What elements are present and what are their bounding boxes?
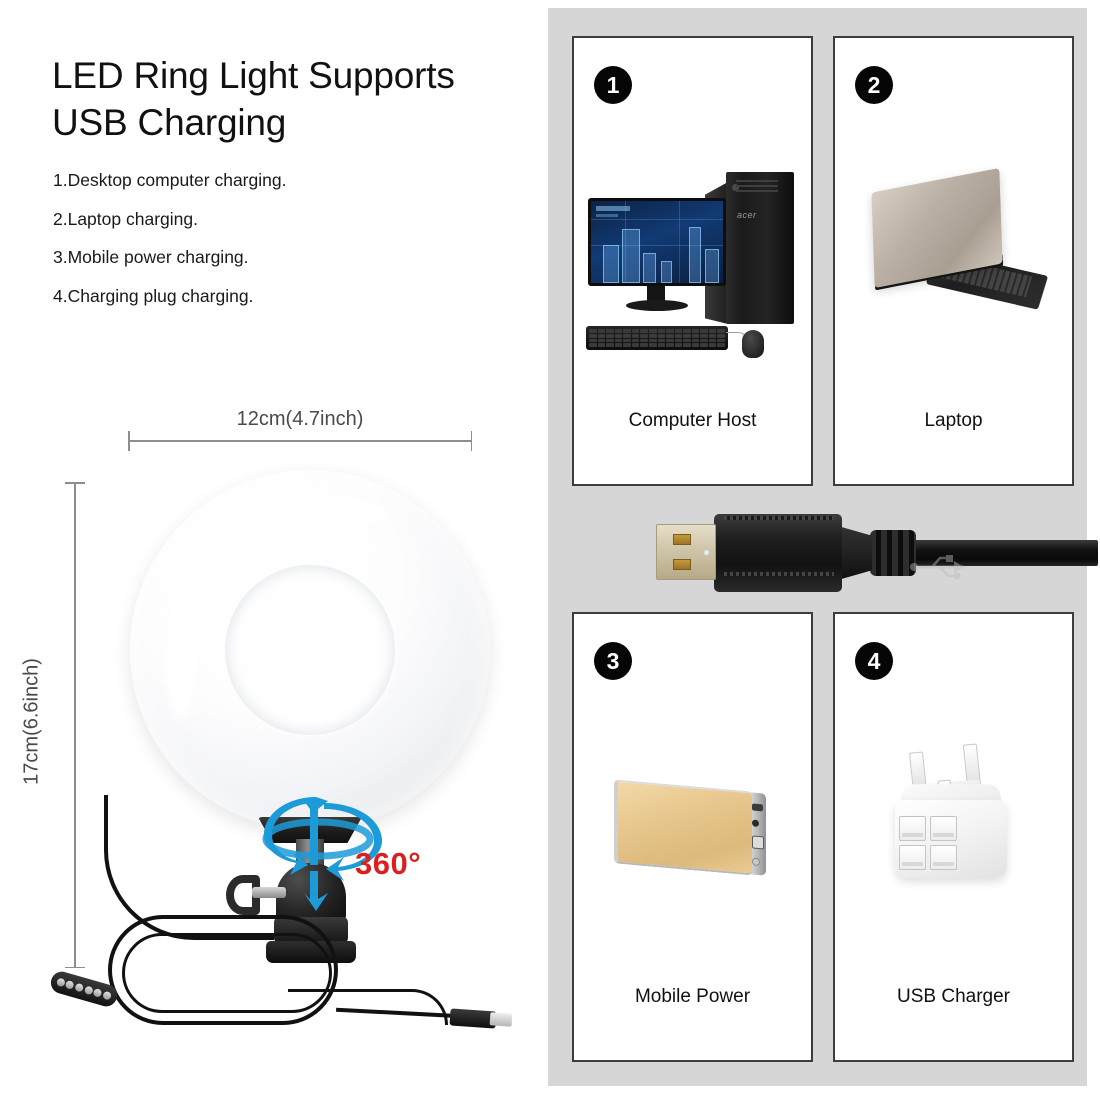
card-label-2: Laptop	[835, 410, 1072, 432]
usb-metal-housing	[656, 524, 716, 580]
monitor-screen	[591, 201, 723, 283]
mouse-icon	[742, 330, 764, 358]
height-dimension-line	[74, 482, 76, 968]
power-bank-power-button	[752, 857, 760, 866]
page-title-line-2: USB Charging	[52, 102, 286, 143]
charger-usb-port-grid	[899, 816, 957, 870]
monitor-base	[626, 300, 688, 311]
ring-inner-aperture	[225, 565, 395, 735]
power-cable-tail	[288, 989, 448, 1025]
computer-tower	[726, 172, 794, 324]
page-title: LED Ring Light Supports USB Charging	[52, 52, 522, 147]
usb-trident-logo-icon	[910, 554, 978, 580]
keyboard-icon	[586, 326, 728, 350]
card-number-badge-1: 1	[594, 66, 632, 104]
cable-usb-plug-metal	[490, 1012, 513, 1027]
power-bank-micro-usb-port	[752, 803, 763, 811]
laptop-icon	[835, 158, 1072, 378]
controller-button-5	[93, 988, 103, 998]
usb-a-connector-icon	[548, 498, 1100, 608]
charger-usb-port-1	[899, 816, 926, 841]
height-dimension-label: 17cm(6.6inch)	[21, 637, 44, 807]
left-content-pane: LED Ring Light Supports USB Charging 1.D…	[0, 0, 548, 1100]
ring-highlight-top	[238, 496, 388, 530]
feature-item-1: 1.Desktop computer charging.	[53, 172, 483, 190]
led-ring-icon	[130, 470, 490, 830]
card-label-4: USB Charger	[835, 986, 1072, 1008]
controller-button-2	[65, 980, 75, 990]
charger-usb-port-4	[930, 845, 957, 870]
tower-vent-2	[736, 185, 778, 187]
ring-highlight-left	[166, 590, 196, 720]
scenario-card-laptop[interactable]: 2 Laptop	[833, 36, 1074, 486]
usb-wall-charger-icon: CE	[835, 734, 1072, 954]
controller-button-3	[74, 983, 84, 993]
ring-light-product-image	[100, 455, 520, 1075]
power-bank-body	[614, 779, 766, 876]
scenario-card-computer-host[interactable]: 1 acer	[572, 36, 813, 486]
feature-item-3: 3.Mobile power charging.	[53, 249, 483, 267]
monitor	[588, 198, 726, 286]
charger-usb-port-3	[899, 845, 926, 870]
card-label-1: Computer Host	[574, 410, 811, 432]
desktop-computer-icon: acer	[574, 158, 811, 378]
power-bank-led-indicator	[752, 819, 759, 827]
power-bank-usb-port	[752, 835, 764, 849]
width-dimension-line	[128, 440, 472, 442]
usb-shell-ridge-top	[724, 516, 834, 520]
usb-shell-taper	[838, 526, 872, 580]
controller-button-4	[84, 985, 94, 995]
usb-contact-pad-top	[673, 534, 691, 545]
feature-item-4: 4.Charging plug charging.	[53, 288, 483, 306]
card-number-badge-2: 2	[855, 66, 893, 104]
usb-shell-ridge-bottom	[724, 572, 834, 576]
feature-item-2: 2.Laptop charging.	[53, 211, 483, 229]
scenario-card-mobile-power[interactable]: 3 Mobile Power	[572, 612, 813, 1062]
width-dimension-label: 12cm(4.7inch)	[128, 408, 472, 431]
charger-usb-port-2	[930, 816, 957, 841]
title-block: LED Ring Light Supports USB Charging	[52, 52, 522, 147]
usb-connector-shell	[714, 514, 842, 592]
card-number-badge-3: 3	[594, 642, 632, 680]
scenario-card-usb-charger[interactable]: 4 CE USB Charger	[833, 612, 1074, 1062]
controller-button-1	[56, 977, 66, 987]
rotation-degree-label: 360°	[355, 846, 421, 882]
power-bank-icon	[574, 734, 811, 954]
power-bank-face	[614, 779, 752, 875]
usb-contact-pad-bottom	[673, 559, 691, 570]
page-title-line-1: LED Ring Light Supports	[52, 55, 455, 96]
usb-housing-dimple	[703, 549, 710, 556]
card-number-badge-4: 4	[855, 642, 893, 680]
card-label-3: Mobile Power	[574, 986, 811, 1008]
tower-vent-3	[736, 190, 778, 192]
tower-vent-1	[736, 180, 778, 182]
tower-brand-mark: acer	[737, 210, 757, 220]
controller-button-6	[102, 991, 112, 1001]
feature-list: 1.Desktop computer charging. 2.Laptop ch…	[53, 172, 483, 326]
